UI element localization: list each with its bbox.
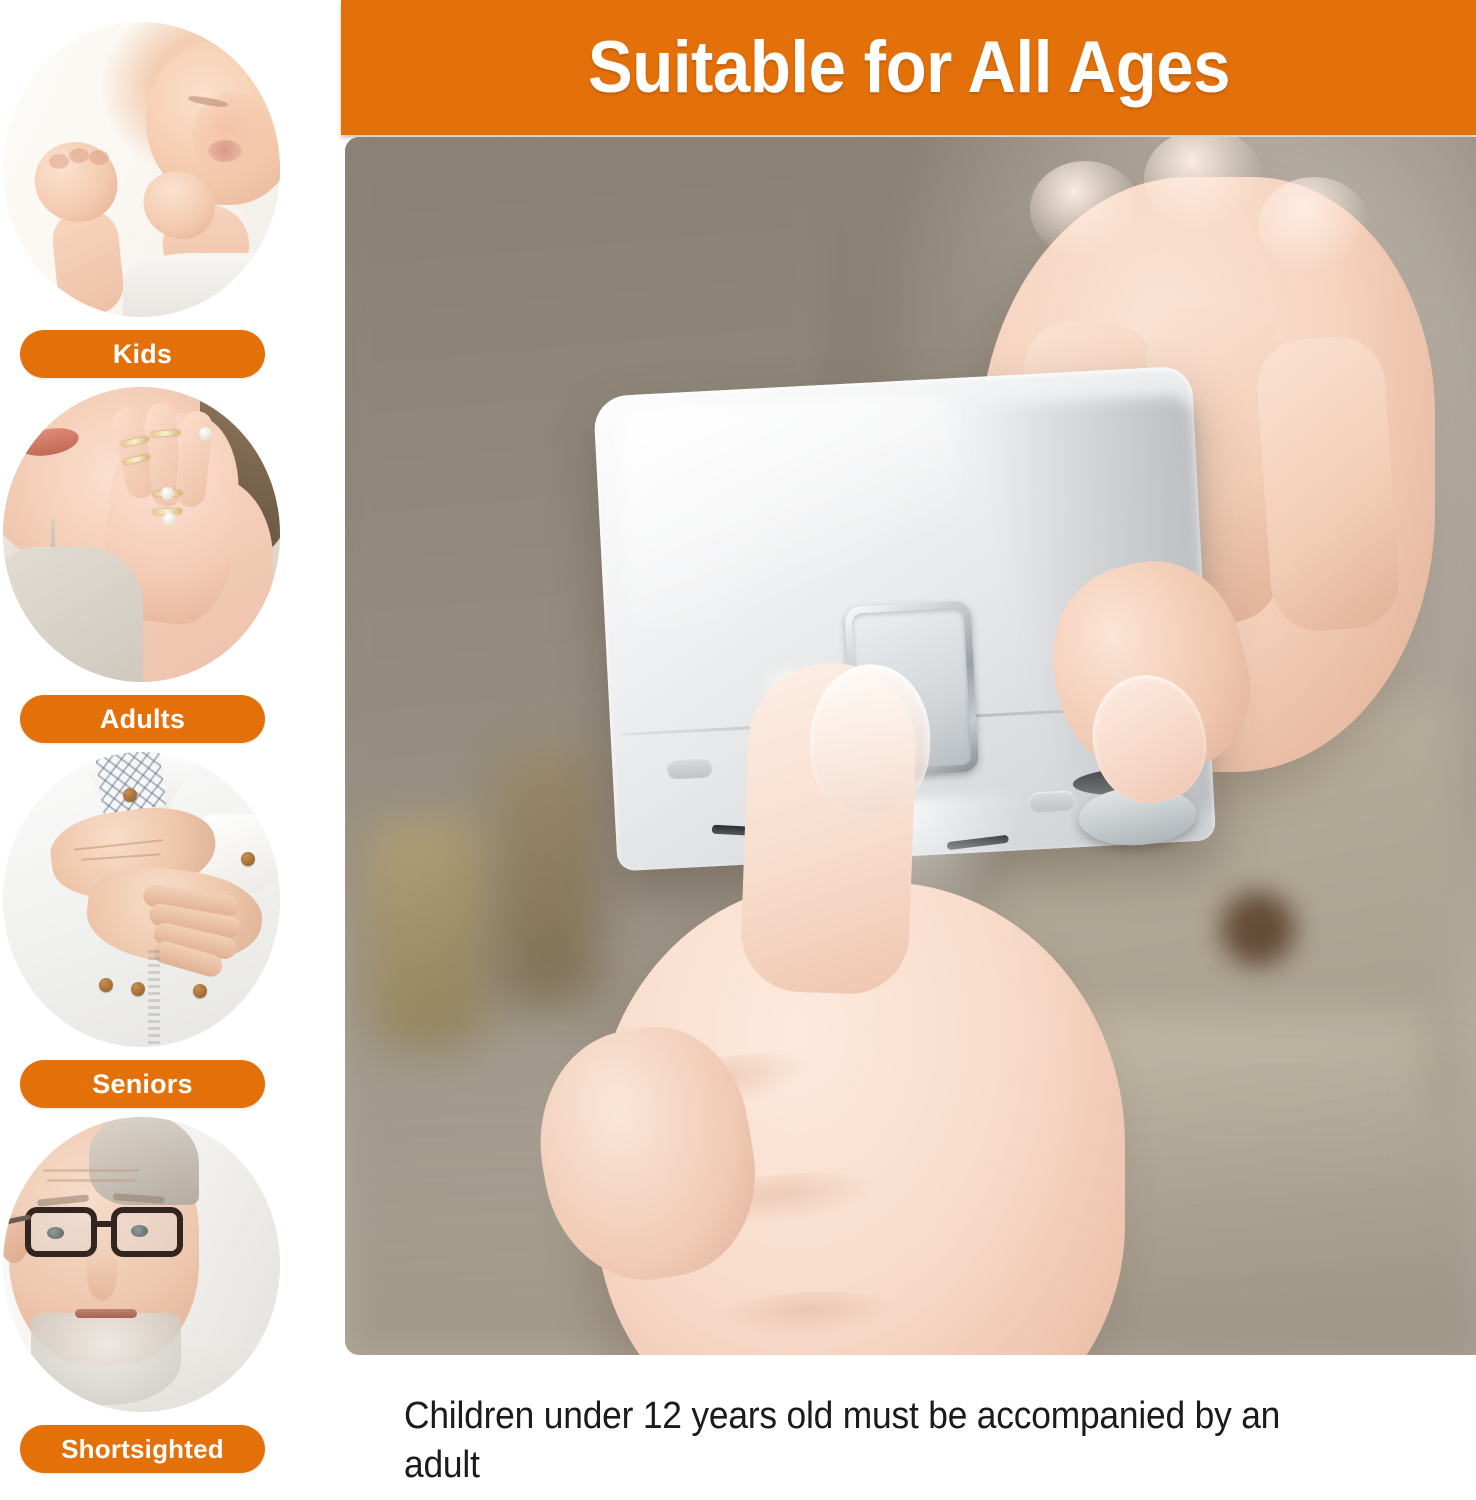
upper-hand-thumb-layer [865, 137, 1476, 917]
shirt-button [131, 982, 145, 996]
pearl-bead [161, 487, 174, 500]
shirt-button [241, 852, 255, 866]
glasses-lens [111, 1207, 183, 1257]
age-group-sidebar: Kids [0, 0, 300, 1500]
age-group-label-text: Adults [100, 704, 185, 735]
forehead-wrinkle [43, 1169, 139, 1172]
age-group-label-text: Shortsighted [61, 1434, 224, 1465]
thumbnail-kids [0, 22, 281, 322]
thumbnail-shortsighted [0, 1117, 281, 1417]
pearl-bead [199, 427, 212, 440]
thumbnail-seniors [0, 752, 281, 1052]
shirt-button [123, 788, 137, 802]
woman-clothing [3, 547, 143, 682]
glasses-bridge [91, 1221, 117, 1227]
age-group-item-shortsighted[interactable]: Shortsighted [0, 1117, 300, 1473]
man-beard [31, 1313, 181, 1405]
age-group-item-adults[interactable]: Adults [0, 387, 300, 743]
forehead-wrinkle [47, 1179, 135, 1182]
age-group-item-seniors[interactable]: Seniors [0, 752, 300, 1108]
baby-clothing [123, 253, 280, 317]
header-banner: Suitable for All Ages [341, 0, 1476, 135]
age-group-label-kids[interactable]: Kids [20, 330, 265, 378]
baby-knuckle [49, 154, 69, 169]
page-title: Suitable for All Ages [587, 26, 1229, 109]
shirt-button [193, 984, 207, 998]
age-group-label-text: Kids [113, 339, 172, 370]
age-group-label-seniors[interactable]: Seniors [20, 1060, 265, 1108]
age-group-label-shortsighted[interactable]: Shortsighted [20, 1425, 265, 1473]
baby-cheek [192, 92, 274, 178]
main-product-photo [345, 137, 1476, 1355]
man-nose [87, 1249, 117, 1301]
thumbnail-adults [0, 387, 281, 687]
safety-caption: Children under 12 years old must be acco… [404, 1392, 1404, 1491]
patterned-tie [95, 752, 166, 814]
age-group-item-kids[interactable]: Kids [0, 22, 300, 378]
age-group-label-text: Seniors [92, 1069, 192, 1100]
shirt-placket [148, 950, 160, 1047]
man-hair [89, 1117, 199, 1205]
safety-caption-text: Children under 12 years old must be acco… [404, 1392, 1334, 1491]
baby-knuckle [69, 148, 89, 163]
age-group-label-adults[interactable]: Adults [20, 695, 265, 743]
man-mouth [75, 1309, 137, 1318]
shirt-button [99, 978, 113, 992]
baby-mouth [208, 140, 242, 162]
background-vase [368, 819, 488, 1049]
pearl-bead [163, 513, 176, 526]
baby-knuckle [89, 150, 109, 165]
